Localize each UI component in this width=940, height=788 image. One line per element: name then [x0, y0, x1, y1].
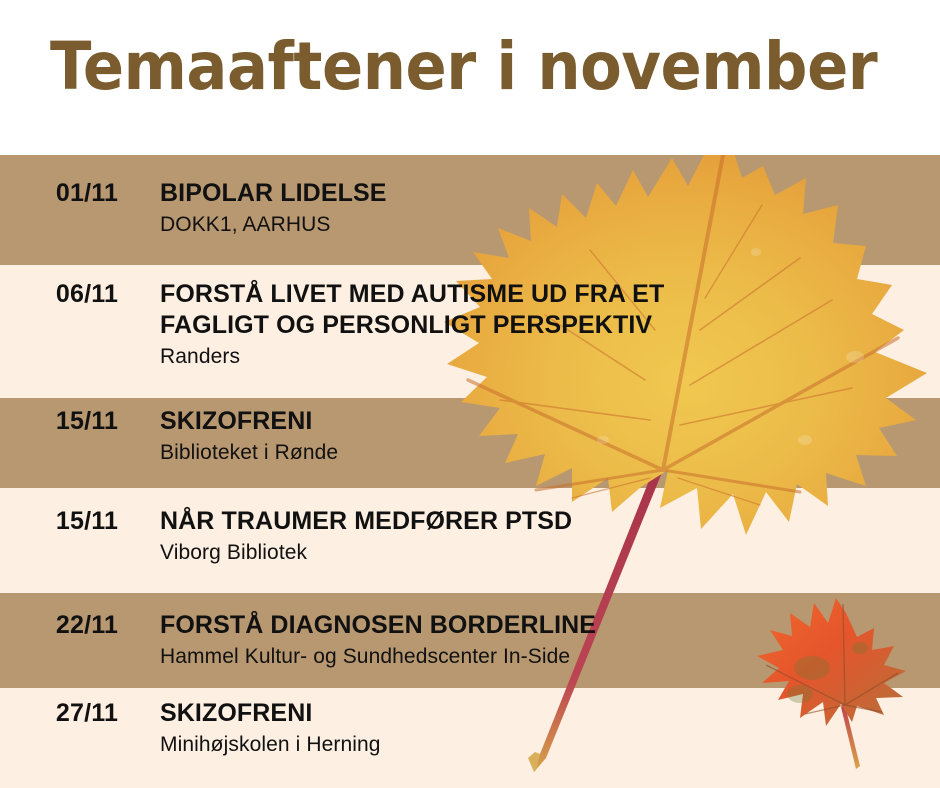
bottom-filler — [0, 775, 940, 788]
event-venue: Hammel Kultur- og Sundhedscenter In-Side — [160, 643, 930, 670]
event-row[interactable]: 27/11 SKIZOFRENI Minihøjskolen i Herning — [0, 698, 940, 758]
event-body: SKIZOFRENI Minihøjskolen i Herning — [160, 698, 940, 758]
event-title: SKIZOFRENI — [160, 406, 930, 437]
event-title: FORSTÅ DIAGNOSEN BORDERLINE — [160, 610, 930, 641]
event-venue: Viborg Bibliotek — [160, 539, 930, 566]
event-row[interactable]: 15/11 NÅR TRAUMER MEDFØRER PTSD Viborg B… — [0, 506, 940, 566]
poster-canvas: Temaaftener i november 01/11 BIPOLAR LID… — [0, 0, 940, 788]
event-body: FORSTÅ LIVET MED AUTISME UD FRA ET FAGLI… — [160, 279, 940, 370]
poster-header: Temaaftener i november — [0, 0, 940, 155]
event-row[interactable]: 01/11 BIPOLAR LIDELSE DOKK1, AARHUS — [0, 178, 940, 238]
event-venue: DOKK1, AARHUS — [160, 211, 930, 238]
event-date: 27/11 — [0, 698, 160, 729]
page-title: Temaaftener i november — [50, 28, 877, 106]
event-title: FORSTÅ LIVET MED AUTISME UD FRA ET FAGLI… — [160, 279, 930, 341]
event-date: 15/11 — [0, 406, 160, 437]
event-date: 22/11 — [0, 610, 160, 641]
event-venue: Minihøjskolen i Herning — [160, 731, 930, 758]
event-date: 01/11 — [0, 178, 160, 209]
event-body: NÅR TRAUMER MEDFØRER PTSD Viborg Bibliot… — [160, 506, 940, 566]
event-venue: Biblioteket i Rønde — [160, 439, 930, 466]
event-row[interactable]: 06/11 FORSTÅ LIVET MED AUTISME UD FRA ET… — [0, 279, 940, 370]
event-body: SKIZOFRENI Biblioteket i Rønde — [160, 406, 940, 466]
event-date: 06/11 — [0, 279, 160, 310]
event-venue: Randers — [160, 343, 930, 370]
event-date: 15/11 — [0, 506, 160, 537]
event-title: BIPOLAR LIDELSE — [160, 178, 930, 209]
event-row[interactable]: 15/11 SKIZOFRENI Biblioteket i Rønde — [0, 406, 940, 466]
event-title: NÅR TRAUMER MEDFØRER PTSD — [160, 506, 930, 537]
event-title: SKIZOFRENI — [160, 698, 930, 729]
event-body: BIPOLAR LIDELSE DOKK1, AARHUS — [160, 178, 940, 238]
event-body: FORSTÅ DIAGNOSEN BORDERLINE Hammel Kultu… — [160, 610, 940, 670]
event-row[interactable]: 22/11 FORSTÅ DIAGNOSEN BORDERLINE Hammel… — [0, 610, 940, 670]
